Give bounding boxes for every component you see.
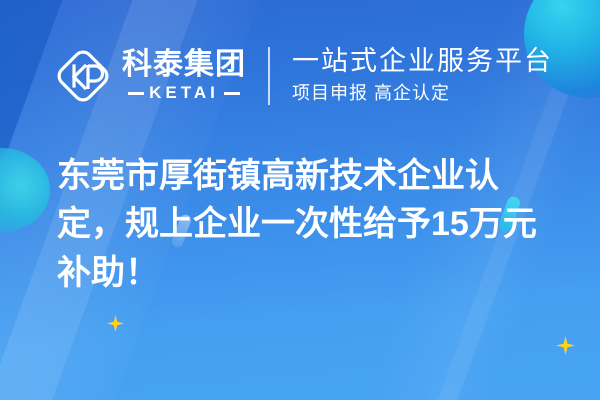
cyan-glow-circle-left-icon xyxy=(0,148,50,232)
vertical-divider-icon xyxy=(268,47,270,105)
tagline-sub: 项目申报 高企认定 xyxy=(292,82,553,105)
tagline-main: 一站式企业服务平台 xyxy=(292,46,553,77)
sparkle-star-left-icon xyxy=(107,315,124,332)
dash-right-icon xyxy=(224,92,240,95)
ketai-diamond-kp-emblem-icon xyxy=(54,47,112,105)
sparkle-star-right-icon xyxy=(556,336,575,355)
dash-left-icon xyxy=(128,92,144,95)
banner-header: 科泰集团 KETAI 一站式企业服务平台 项目申报 高企认定 xyxy=(0,36,600,116)
company-name-en-row: KETAI xyxy=(128,83,240,103)
brand-wordmark: 科泰集团 KETAI xyxy=(122,49,246,104)
headline-text: 东莞市厚街镇高新技术企业认定，规上企业一次性给予15万元补助！ xyxy=(57,152,553,297)
promo-banner: 科泰集团 KETAI 一站式企业服务平台 项目申报 高企认定 东莞市厚街镇高新技… xyxy=(0,0,600,400)
company-name-cn: 科泰集团 xyxy=(122,49,246,81)
tagline-group: 一站式企业服务平台 项目申报 高企认定 xyxy=(292,46,553,105)
brand-logo: 科泰集团 KETAI xyxy=(54,47,246,105)
company-name-en: KETAI xyxy=(149,83,219,103)
